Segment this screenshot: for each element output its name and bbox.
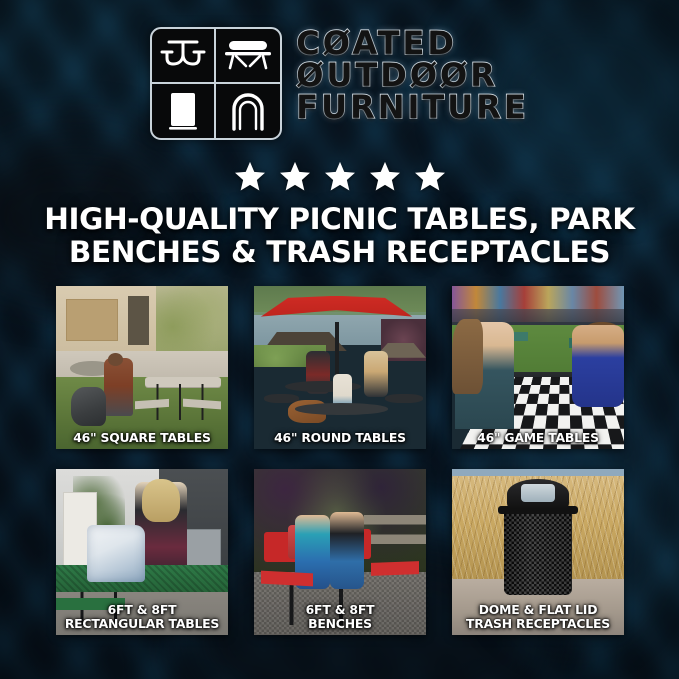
product-grid: 46" SQUARE TABLES xyxy=(56,286,624,635)
headline-line-2: BENCHES & TRASH RECEPTACLES xyxy=(30,236,649,269)
caption-line-2: RECTANGULAR TABLES xyxy=(65,616,219,631)
product-photo-square-tables xyxy=(56,286,228,449)
star-icon xyxy=(413,160,447,193)
product-tile-square-tables[interactable]: 46" SQUARE TABLES xyxy=(56,286,228,449)
page-title: HIGH-QUALITY PICNIC TABLES, PARK BENCHES… xyxy=(30,203,649,269)
star-icon xyxy=(233,160,267,193)
product-caption-round-tables: 46" ROUND TABLES xyxy=(254,431,426,444)
brand-word-line-2: ØUTDØØR xyxy=(296,60,528,91)
product-caption-game-tables: 46" GAME TABLES xyxy=(452,431,624,444)
star-rating xyxy=(0,160,679,193)
product-photo-game-tables xyxy=(452,286,624,449)
product-tile-round-tables[interactable]: 46" ROUND TABLES xyxy=(254,286,426,449)
product-caption-square-tables: 46" SQUARE TABLES xyxy=(56,431,228,444)
product-tile-rectangular-tables[interactable]: 6FT & 8FT RECTANGULAR TABLES xyxy=(56,469,228,635)
product-caption-rectangular-tables: 6FT & 8FT RECTANGULAR TABLES xyxy=(56,603,228,630)
logo-icon-grid xyxy=(150,27,282,140)
bike-rack-icon xyxy=(216,84,280,139)
product-tile-game-tables[interactable]: 46" GAME TABLES xyxy=(452,286,624,449)
headline-line-1: HIGH-QUALITY PICNIC TABLES, PARK xyxy=(44,202,634,236)
product-caption-benches: 6FT & 8FT BENCHES xyxy=(254,603,426,630)
brand-word-line-1: CØATED xyxy=(296,28,528,59)
product-tile-trash-receptacles[interactable]: DOME & FLAT LID TRASH RECEPTACLES xyxy=(452,469,624,635)
star-icon xyxy=(368,160,402,193)
brand-logo: CØATED ØUTDØØR FURNITURE xyxy=(0,27,679,140)
caption-line-2: BENCHES xyxy=(308,616,372,631)
brand-wordmark: CØATED ØUTDØØR FURNITURE xyxy=(296,27,528,123)
trash-receptacle-icon xyxy=(152,84,216,139)
product-tile-benches[interactable]: 6FT & 8FT BENCHES xyxy=(254,469,426,635)
star-icon xyxy=(278,160,312,193)
park-bench-icon xyxy=(216,29,280,84)
product-caption-trash-receptacles: DOME & FLAT LID TRASH RECEPTACLES xyxy=(452,603,624,630)
picnic-table-icon xyxy=(152,29,216,84)
caption-line-2: TRASH RECEPTACLES xyxy=(466,616,610,631)
product-photo-round-tables xyxy=(254,286,426,449)
brand-word-line-3: FURNITURE xyxy=(296,92,528,123)
star-icon xyxy=(323,160,357,193)
